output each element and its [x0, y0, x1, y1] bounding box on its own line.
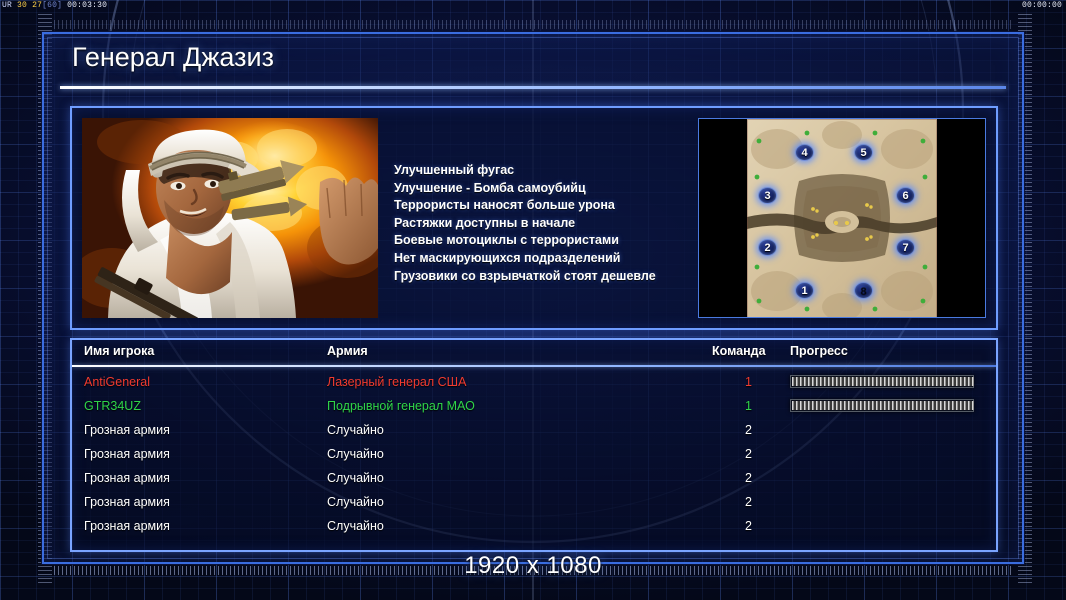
player-army: Случайно: [327, 492, 384, 512]
player-team: 2: [712, 468, 752, 488]
map-preview[interactable]: 12345678: [698, 118, 986, 318]
player-army: Случайно: [327, 444, 384, 464]
player-army: Случайно: [327, 420, 384, 440]
spawn-point-2[interactable]: 2: [758, 239, 777, 256]
player-name: GTR34UZ: [84, 396, 141, 416]
map-preview-image: [747, 119, 937, 318]
player-team: 1: [712, 372, 752, 392]
roster-row[interactable]: AntiGeneralЛазерный генерал США1: [72, 372, 996, 396]
player-army: Случайно: [327, 516, 384, 536]
status-label: UR: [2, 1, 12, 10]
status-value-1: 30: [17, 1, 27, 10]
spawn-point-8[interactable]: 8: [854, 282, 873, 299]
general-portrait: [82, 118, 378, 318]
player-team: 2: [712, 420, 752, 440]
roster-row[interactable]: Грозная армияСлучайно2: [72, 468, 996, 492]
title-bar: Генерал Джазиз: [44, 34, 1022, 90]
general-abilities-list: Улучшенный фугас Улучшение - Бомба самоу…: [394, 162, 712, 285]
ability-line: Улучшенный фугас: [394, 162, 712, 180]
top-status-bar: UR 30 27[60] 00:03:30 00:00:00: [0, 0, 1066, 12]
column-header-progress: Прогресс: [790, 344, 848, 358]
status-clock: 00:00:00: [1022, 0, 1062, 12]
column-header-team: Команда: [712, 344, 766, 358]
ability-line: Террористы наносят больше урона: [394, 197, 712, 215]
roster-row[interactable]: Грозная армияСлучайно2: [72, 516, 996, 540]
progress-bar: [790, 375, 974, 388]
player-roster-panel: Имя игрока Армия Команда Прогресс AntiGe…: [70, 338, 998, 552]
spawn-point-6[interactable]: 6: [896, 187, 915, 204]
spawn-point-3[interactable]: 3: [758, 187, 777, 204]
progress-bar-fill: [792, 377, 974, 386]
column-header-army: Армия: [327, 344, 368, 358]
ability-line: Грузовики со взрывчаткой стоят дешевле: [394, 268, 712, 286]
player-name: Грозная армия: [84, 516, 170, 536]
player-army: Лазерный генерал США: [327, 372, 466, 392]
player-team: 2: [712, 516, 752, 536]
player-team: 2: [712, 444, 752, 464]
player-name: AntiGeneral: [84, 372, 150, 392]
roster-row[interactable]: Грозная армияСлучайно2: [72, 420, 996, 444]
roster-row[interactable]: Грозная армияСлучайно2: [72, 492, 996, 516]
spawn-point-7[interactable]: 7: [896, 239, 915, 256]
roster-header-divider: [72, 365, 996, 367]
spawn-point-4[interactable]: 4: [795, 144, 814, 161]
player-name: Грозная армия: [84, 492, 170, 512]
status-bracket: [60]: [42, 1, 62, 10]
title-underline: [60, 86, 1006, 89]
roster-header-row: Имя игрока Армия Команда Прогресс: [72, 344, 996, 366]
player-name: Грозная армия: [84, 468, 170, 488]
roster-row[interactable]: Грозная армияСлучайно2: [72, 444, 996, 468]
player-name: Грозная армия: [84, 420, 170, 440]
status-left-group: UR 30 27[60] 00:03:30: [2, 0, 107, 12]
ability-line: Боевые мотоциклы с террористами: [394, 232, 712, 250]
page-title: Генерал Джазиз: [72, 42, 274, 73]
player-army: Случайно: [327, 468, 384, 488]
player-team: 1: [712, 396, 752, 416]
ability-line: Улучшение - Бомба самоубийц: [394, 180, 712, 198]
status-value-2: 27: [32, 1, 42, 10]
ability-line: Нет маскирующихся подразделений: [394, 250, 712, 268]
status-timer: 00:03:30: [67, 1, 107, 10]
spawn-point-5[interactable]: 5: [854, 144, 873, 161]
general-info-panel: Улучшенный фугас Улучшение - Бомба самоу…: [70, 106, 998, 330]
progress-bar-fill: [792, 401, 974, 410]
roster-row[interactable]: GTR34UZПодрывной генерал МАО1: [72, 396, 996, 420]
column-header-name: Имя игрока: [84, 344, 154, 358]
ruler-top: [54, 20, 1012, 29]
resolution-watermark: 1920 x 1080: [0, 552, 1066, 580]
player-team: 2: [712, 492, 752, 512]
player-army: Подрывной генерал МАО: [327, 396, 475, 416]
progress-bar: [790, 399, 974, 412]
spawn-point-1[interactable]: 1: [795, 282, 814, 299]
player-name: Грозная армия: [84, 444, 170, 464]
ability-line: Растяжки доступны в начале: [394, 215, 712, 233]
